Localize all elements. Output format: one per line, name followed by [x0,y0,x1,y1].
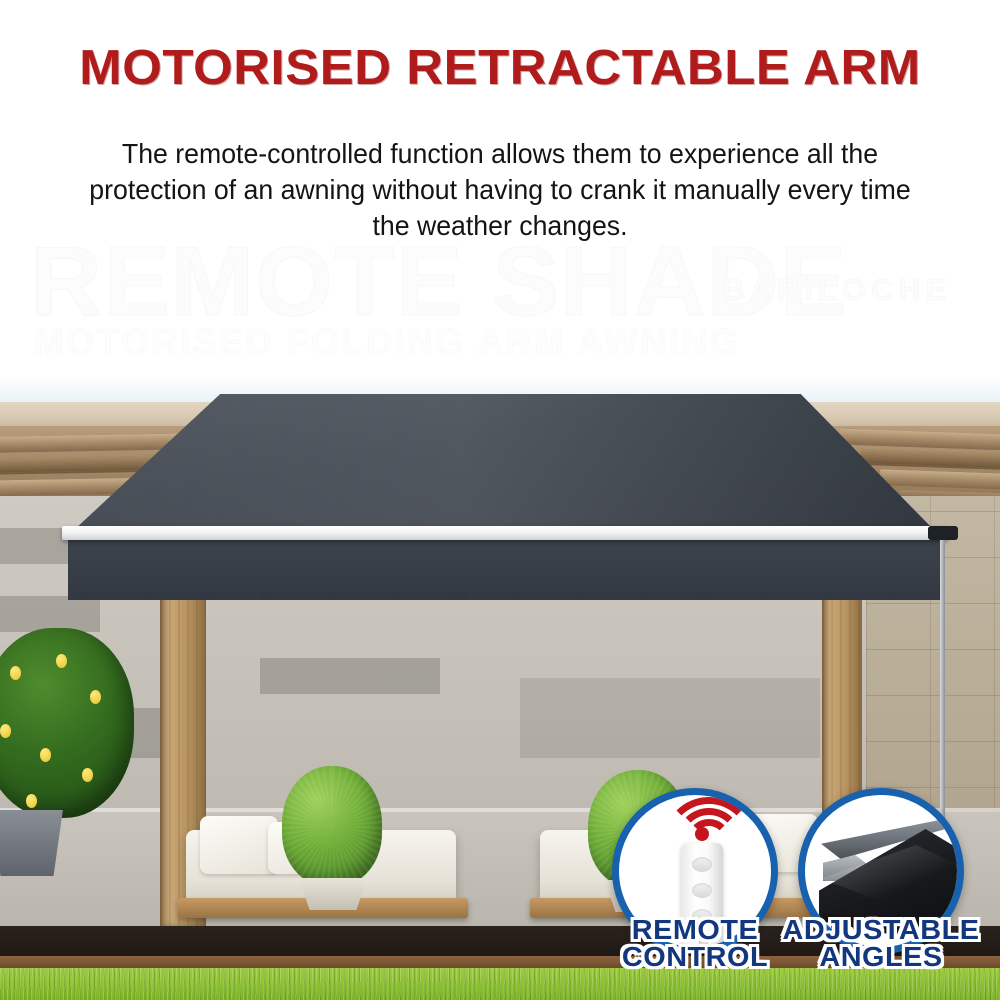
product-feature-image: REMOTE SHADE MOTORISED FOLDING ARM AWNIN… [0,0,1000,1000]
pergola-beam [860,449,1000,471]
remote-button-stop [692,883,712,898]
awning-canopy [74,394,934,530]
wall-shadow [520,678,820,758]
feature-badge-remote-control[interactable]: REMOTE CONTROL [612,788,778,954]
header-band: REMOTE SHADE MOTORISED FOLDING ARM AWNIN… [0,0,1000,378]
watermark-tagline: MOTORISED FOLDING ARM AWNING [34,324,741,360]
lemon-fruit [90,690,101,704]
lemon-tree [0,628,134,818]
topiary-plant-left [282,766,382,886]
lemon-fruit [56,654,67,668]
lemon-fruit [40,748,51,762]
page-subtitle: The remote-controlled function allows th… [73,136,927,244]
lemon-fruit [0,724,11,738]
pergola-beam [880,469,1000,491]
badge-label-line2: ANGLES [819,941,942,972]
page-title: MOTORISED RETRACTABLE ARM [0,44,1000,93]
awning-front-bar [62,526,948,540]
sofa-cushion [200,816,278,874]
wall-shadow [260,658,440,694]
badge-label-line2: CONTROL [622,941,768,972]
lemon-fruit [26,794,37,808]
awning-scalloped-edge [68,584,944,608]
feature-badge-adjustable-angles[interactable]: ADJUSTABLE ANGLES [798,788,964,954]
lawn-strip [0,968,1000,1000]
signal-core-icon [695,827,709,841]
lemon-fruit [82,768,93,782]
badge-label-adjustable-angles: ADJUSTABLE ANGLES [765,916,998,970]
lemon-fruit [10,666,21,680]
tree-foliage [0,628,134,818]
remote-button-up [692,857,712,872]
watermark-model-name: BARILOCHE [722,274,951,305]
watermark-group: REMOTE SHADE MOTORISED FOLDING ARM AWNIN… [0,232,1000,372]
pole-bracket [928,526,958,540]
